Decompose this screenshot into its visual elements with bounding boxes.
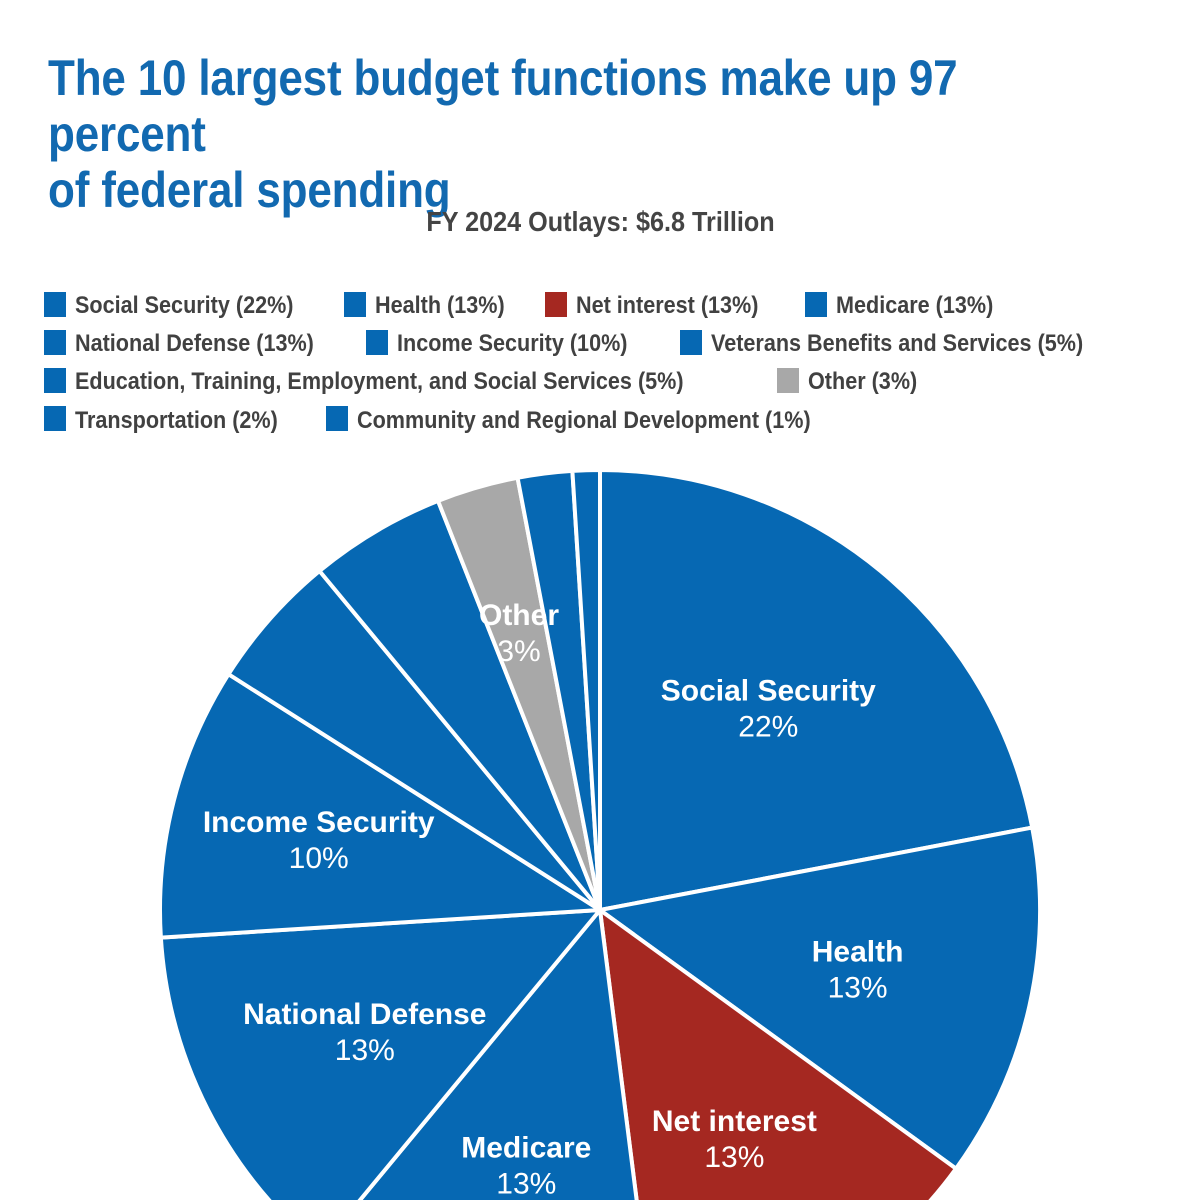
- pie-slice-label-name: National Defense: [243, 998, 486, 1031]
- pie-slice-label-percent: 22%: [738, 711, 798, 744]
- pie-chart-area: Social Security22%Health13%Net interest1…: [0, 0, 1200, 1200]
- pie-slice-label-name: Other: [479, 599, 559, 632]
- pie-slice-label-name: Social Security: [661, 675, 876, 708]
- pie-slice-label-name: Net interest: [652, 1105, 817, 1138]
- pie-slice-label-percent: 3%: [497, 635, 540, 668]
- chart-page: The 10 largest budget functions make up …: [0, 0, 1200, 1200]
- pie-slice-label-name: Health: [812, 936, 904, 969]
- pie-slice-label-name: Income Security: [203, 806, 435, 839]
- pie-chart: Social Security22%Health13%Net interest1…: [0, 0, 1200, 1200]
- pie-slice-label-percent: 13%: [496, 1168, 556, 1200]
- pie-slice-label-percent: 10%: [289, 842, 349, 875]
- pie-slice-label-percent: 13%: [335, 1034, 395, 1067]
- pie-slice-label-percent: 13%: [828, 972, 888, 1005]
- pie-slice-label-name: Medicare: [461, 1132, 591, 1165]
- pie-slice-label-percent: 13%: [704, 1141, 764, 1174]
